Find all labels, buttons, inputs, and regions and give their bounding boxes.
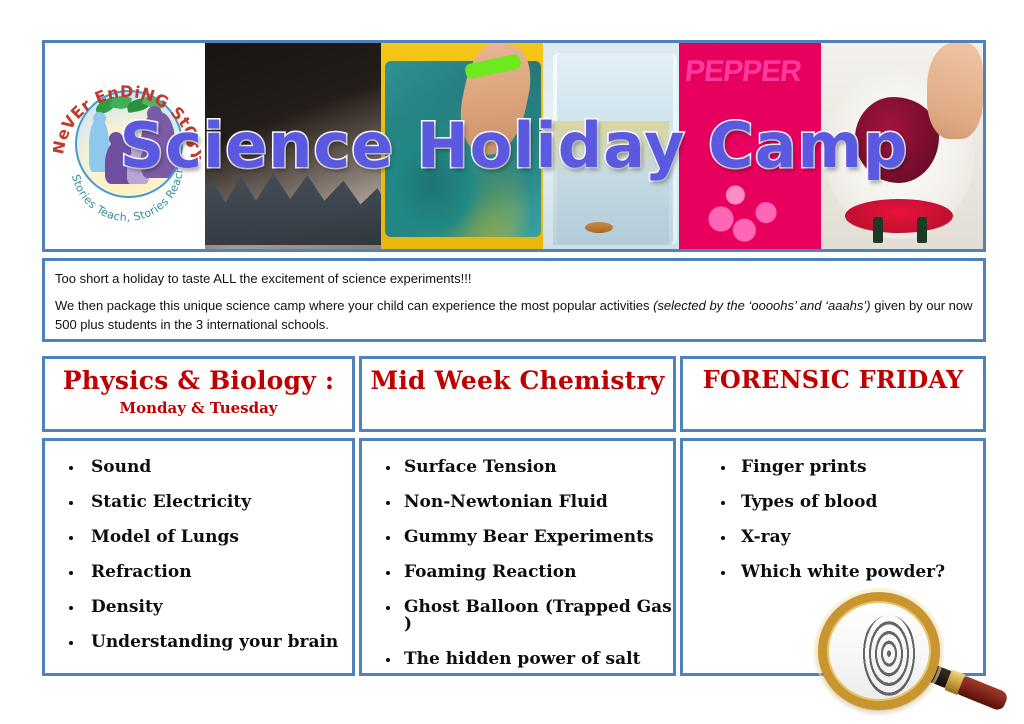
logo-arc-bottom-text: Stories Teach, Stories Reach — [69, 165, 186, 224]
intro-line-2-part-a: We then package this unique science camp… — [55, 298, 653, 313]
svg-text:Stories Teach, Stories Reach: Stories Teach, Stories Reach — [69, 165, 186, 224]
pink-blobs-shape — [703, 163, 793, 243]
intro-line-1: Too short a holiday to taste ALL the exc… — [55, 269, 973, 288]
intro-line-2-italic: (selected by the ‘oooohs’ and ‘aaahs’) — [653, 298, 871, 313]
list-item: Static Electricity — [45, 494, 352, 511]
logo-arc-top-text: NeVEr EnDiNG StOrY — [53, 82, 201, 162]
beetroot-shape — [855, 97, 939, 183]
header-cell-forensic-friday: FORENSIC FRIDAY — [680, 356, 986, 432]
list-item: Non-Newtonian Fluid — [362, 494, 673, 511]
photo-glass-jar — [543, 43, 679, 249]
list-item: Density — [45, 599, 352, 616]
photo-dark-rock — [205, 43, 381, 249]
list-item: Types of blood — [683, 494, 983, 511]
table-header-row: Physics & Biology : Monday & Tuesday Mid… — [42, 356, 986, 432]
coin-shape — [585, 222, 613, 233]
intro-box: Too short a holiday to taste ALL the exc… — [42, 258, 986, 342]
activity-list-forensic-friday: Finger prints Types of blood X-ray Which… — [683, 441, 983, 581]
activities-table: Physics & Biology : Monday & Tuesday Mid… — [42, 356, 986, 678]
body-cell-physics-biology: Sound Static Electricity Model of Lungs … — [42, 438, 355, 676]
header-cell-mid-week-chemistry: Mid Week Chemistry — [359, 356, 676, 432]
logo-panel: NeVEr EnDiNG StOrY Stories Teach, Storie… — [45, 43, 205, 249]
body-cell-mid-week-chemistry: Surface Tension Non-Newtonian Fluid Gumm… — [359, 438, 676, 676]
list-item: Refraction — [45, 564, 352, 581]
list-item: X-ray — [683, 529, 983, 546]
header-subtitle-physics-biology: Monday & Tuesday — [45, 399, 352, 417]
list-item: Ghost Balloon (Trapped Gas ) — [362, 599, 673, 633]
list-item: Foaming Reaction — [362, 564, 673, 581]
header-title-forensic-friday: FORENSIC FRIDAY — [683, 367, 983, 393]
header-title-physics-biology: Physics & Biology : — [45, 367, 352, 394]
list-item: Understanding your brain — [45, 634, 352, 651]
list-item: Surface Tension — [362, 459, 673, 476]
header-title-mid-week-chemistry: Mid Week Chemistry — [362, 367, 673, 394]
list-item: Sound — [45, 459, 352, 476]
hand-shape — [927, 43, 983, 139]
list-item: The hidden power of salt — [362, 651, 673, 668]
table-body-row: Sound Static Electricity Model of Lungs … — [42, 438, 986, 676]
photo-pink-pepper: PEPPER — [679, 43, 821, 249]
poster-page: NeVEr EnDiNG StOrY Stories Teach, Storie… — [0, 0, 1024, 724]
header-cell-physics-biology: Physics & Biology : Monday & Tuesday — [42, 356, 355, 432]
activity-list-mid-week-chemistry: Surface Tension Non-Newtonian Fluid Gumm… — [362, 441, 673, 668]
list-item: Finger prints — [683, 459, 983, 476]
photo-beetroot-bowl — [821, 43, 983, 249]
never-ending-story-logo: NeVEr EnDiNG StOrY Stories Teach, Storie… — [53, 57, 201, 235]
body-cell-forensic-friday: Finger prints Types of blood X-ray Which… — [680, 438, 986, 676]
red-liquid-shape — [845, 199, 953, 233]
intro-line-2: We then package this unique science camp… — [55, 296, 973, 334]
list-item: Gummy Bear Experiments — [362, 529, 673, 546]
activity-list-physics-biology: Sound Static Electricity Model of Lungs … — [45, 441, 352, 651]
logo-arc-text: NeVEr EnDiNG StOrY Stories Teach, Storie… — [53, 57, 201, 235]
photo-marble-paint — [381, 43, 543, 249]
banner: NeVEr EnDiNG StOrY Stories Teach, Storie… — [42, 40, 986, 252]
svg-text:NeVEr EnDiNG StOrY: NeVEr EnDiNG StOrY — [53, 82, 201, 162]
list-item: Which white powder? — [683, 564, 983, 581]
rock-shape — [205, 153, 381, 245]
pepper-caption: PEPPER — [683, 55, 819, 89]
list-item: Model of Lungs — [45, 529, 352, 546]
magnifier-wood-grip — [957, 675, 1009, 712]
banner-photo-strips: NeVEr EnDiNG StOrY Stories Teach, Storie… — [45, 43, 983, 249]
